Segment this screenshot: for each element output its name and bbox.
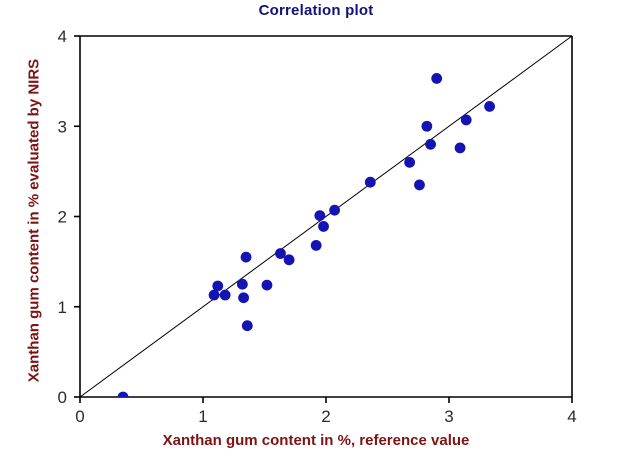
- y-axis-label: Xanthan gum content in % evaluated by NI…: [26, 0, 43, 451]
- x-tick-label: 1: [198, 407, 207, 426]
- data-point-marker: [237, 279, 248, 290]
- y-tick-label: 0: [58, 388, 67, 407]
- data-point-marker: [284, 254, 295, 265]
- tick-labels: 0123401234: [58, 27, 577, 426]
- data-point-marker: [262, 280, 273, 291]
- data-point-marker: [311, 240, 322, 251]
- data-point-marker: [414, 180, 425, 191]
- scatter-plot-canvas: 0123401234: [0, 0, 632, 460]
- data-point-marker: [365, 177, 376, 188]
- data-point-marker: [241, 252, 252, 263]
- data-point-marker: [421, 121, 432, 132]
- data-point-marker: [484, 101, 495, 112]
- y-tick-label: 2: [58, 208, 67, 227]
- x-axis-label: Xanthan gum content in %, reference valu…: [0, 432, 632, 449]
- identity-line: [80, 36, 572, 397]
- x-tick-label: 0: [75, 407, 84, 426]
- data-point-marker: [242, 320, 253, 331]
- data-point-marker: [455, 143, 466, 154]
- data-point-marker: [404, 157, 415, 168]
- y-tick-label: 1: [58, 298, 67, 317]
- y-tick-label: 4: [58, 27, 67, 46]
- data-point-marker: [425, 139, 436, 150]
- data-point-marker: [314, 210, 325, 221]
- data-point-marker: [212, 281, 223, 292]
- y-tick-label: 3: [58, 117, 67, 136]
- data-point-marker: [118, 392, 129, 403]
- x-tick-label: 2: [321, 407, 330, 426]
- data-point-marker: [461, 115, 472, 126]
- data-point-marker: [238, 292, 249, 303]
- data-point-marker: [329, 205, 340, 216]
- data-point-marker: [318, 221, 329, 232]
- x-tick-label: 4: [567, 407, 576, 426]
- data-points: [118, 73, 495, 402]
- data-point-marker: [275, 248, 286, 259]
- data-point-marker: [220, 290, 231, 301]
- correlation-plot-figure: Correlation plot 0123401234 Xanthan gum …: [0, 0, 632, 460]
- data-point-marker: [431, 73, 442, 84]
- x-tick-label: 3: [444, 407, 453, 426]
